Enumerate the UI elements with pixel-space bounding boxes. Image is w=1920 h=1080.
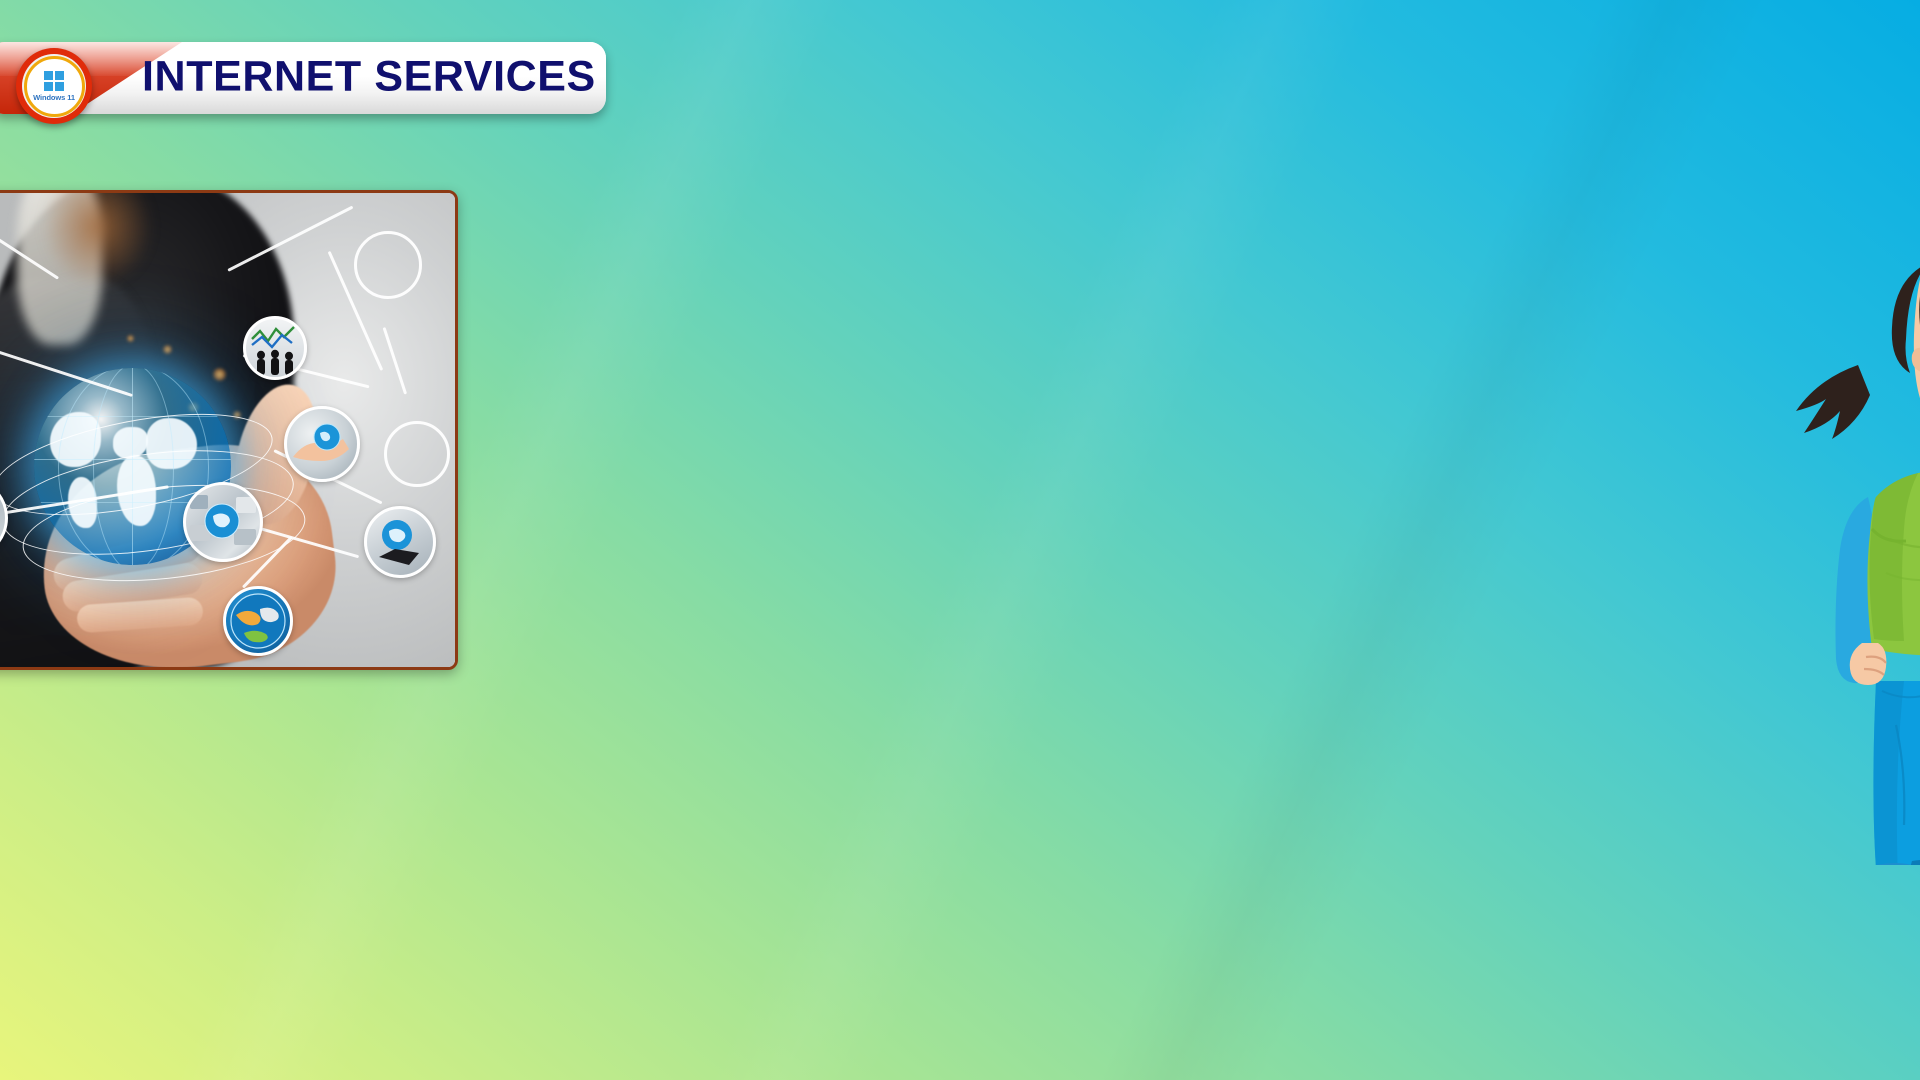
chart-people-icon: [246, 319, 304, 377]
badge-outer-ring: Windows 11: [22, 54, 86, 118]
badge-label: Windows 11: [33, 94, 75, 102]
photo-warm-blur: [42, 193, 153, 288]
world-map-icon: [226, 589, 290, 653]
globe-laptop-icon: [367, 509, 433, 575]
cartoon-girl: [1780, 125, 1920, 865]
slide-canvas: INTERNET SERVICES Windows 11: [0, 0, 1920, 1080]
media-collage-icon: [186, 485, 260, 559]
page-title: INTERNET SERVICES: [142, 53, 596, 102]
internet-services-photo: [0, 190, 458, 670]
windows-11-badge: Windows 11: [16, 48, 92, 124]
left-hand: [1850, 643, 1887, 685]
photo-inner: [0, 193, 455, 667]
node-globe-laptop: [364, 506, 436, 578]
hand-globe-icon: [287, 409, 357, 479]
node-ring-topright: [354, 231, 422, 299]
cartoon-girl-illustration: [1780, 125, 1920, 865]
node-media-collage: [183, 482, 263, 562]
node-ring-right: [384, 421, 450, 487]
node-hand-globe: [284, 406, 360, 482]
bokeh-dot: [163, 345, 172, 354]
windows-logo-icon: [44, 71, 64, 91]
badge-gold-ring: Windows 11: [24, 56, 85, 117]
hair-ponytail: [1796, 365, 1870, 439]
